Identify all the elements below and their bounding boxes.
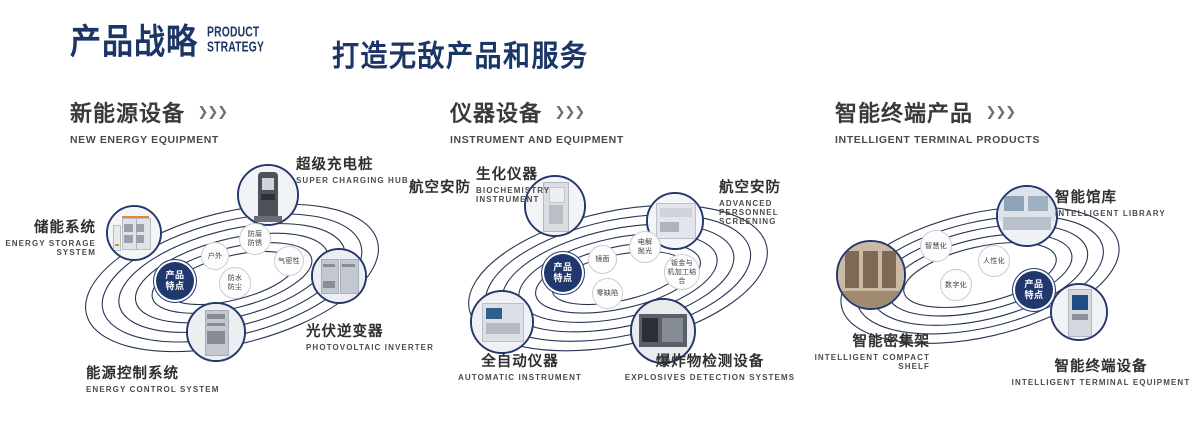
auto-analyzer-icon bbox=[472, 292, 532, 352]
label-cn: 生化仪器 bbox=[476, 163, 552, 184]
section-title-cn: 仪器设备 bbox=[450, 96, 542, 128]
orbit-group-new-energy: 产品 特点 户外 防腐 防锈 防水 防尘 气密性 bbox=[60, 150, 440, 390]
label-en: ENERGY CONTROL SYSTEM bbox=[86, 385, 220, 394]
label-en: INTELLIGENT TERMINAL EQUIPMENT bbox=[1006, 378, 1196, 387]
terminal-kiosk-icon bbox=[1052, 285, 1106, 339]
chevron-right-icon: ❯❯❯ bbox=[985, 104, 1015, 120]
section-title-cn: 新能源设备 bbox=[70, 96, 185, 128]
feature-bubble-mirror: 镜面 bbox=[588, 245, 617, 274]
label-cn: 智能终端设备 bbox=[1006, 355, 1196, 376]
feature-bubble-text: 防腐 bbox=[248, 230, 263, 239]
label-en: ADVANCED PERSONNEL SCREENING bbox=[719, 199, 815, 226]
energy-storage-cabinet-icon bbox=[108, 207, 160, 259]
chevron-right-icon: ❯❯❯ bbox=[554, 104, 584, 120]
label-cn: 储能系统 bbox=[0, 216, 96, 237]
chevron-right-icon: ❯❯❯ bbox=[197, 104, 227, 120]
section-title-cn: 智能终端产品 bbox=[835, 96, 973, 128]
label-intelligent-terminal-equipment: 智能终端设备 INTELLIGENT TERMINAL EQUIPMENT bbox=[1006, 355, 1196, 387]
feature-bubble-text: 防锈 bbox=[248, 239, 263, 248]
feature-bubble-digitalized: 数字化 bbox=[940, 269, 972, 301]
label-automatic-instrument: 全自动仪器 AUTOMATIC INSTRUMENT bbox=[430, 350, 610, 382]
label-en: PHOTOVOLTAIC INVERTER bbox=[306, 343, 434, 352]
feature-bubble-waterproof: 防水 防尘 bbox=[219, 267, 251, 299]
label-cn: 爆炸物检测设备 bbox=[620, 350, 800, 371]
library-room-icon bbox=[998, 187, 1056, 245]
label-photovoltaic-inverter: 光伏逆变器 PHOTOVOLTAIC INVERTER bbox=[306, 320, 434, 352]
label-biochemistry-instrument: 生化仪器 BIOCHEMISTRY INSTRUMENT bbox=[476, 163, 552, 204]
feature-bubble-text: 数字化 bbox=[945, 281, 967, 290]
label-cn: 航空安防 bbox=[719, 176, 815, 197]
label-en: ENERGY STORAGE SYSTEM bbox=[0, 239, 96, 257]
hub-product-features[interactable]: 产品 特点 bbox=[1015, 271, 1053, 309]
section-title-instrument: 仪器设备 ❯❯❯ INSTRUMENT AND EQUIPMENT bbox=[450, 96, 624, 146]
section-title-en: INSTRUMENT AND EQUIPMENT bbox=[450, 134, 624, 146]
hub-product-features[interactable]: 产品 特点 bbox=[544, 254, 582, 292]
label-cn: 能源控制系统 bbox=[86, 362, 220, 383]
label-explosives-detection-systems: 爆炸物检测设备 EXPLOSIVES DETECTION SYSTEMS bbox=[620, 350, 800, 382]
hub-line2: 特点 bbox=[1024, 290, 1043, 301]
page-title-en-line2: STRATEGY bbox=[207, 40, 264, 55]
label-energy-control-system: 能源控制系统 ENERGY CONTROL SYSTEM bbox=[86, 362, 220, 394]
label-en: EXPLOSIVES DETECTION SYSTEMS bbox=[620, 373, 800, 382]
node-intelligent-compact-shelf[interactable] bbox=[836, 240, 906, 310]
page-subtitle: 打造无敌产品和服务 bbox=[332, 32, 589, 75]
charging-pile-icon bbox=[239, 166, 297, 224]
hub-product-features[interactable]: 产品 特点 bbox=[156, 262, 194, 300]
label-cn: 智能馆库 bbox=[1055, 186, 1166, 207]
label-cn: 全自动仪器 bbox=[430, 350, 610, 371]
feature-bubble-text: 抛光 bbox=[638, 247, 653, 256]
feature-bubble-text: 户外 bbox=[208, 252, 223, 261]
page-title-en: PRODUCT STRATEGY bbox=[207, 25, 264, 59]
product-strategy-infographic: 产品战略 PRODUCT STRATEGY 打造无敌产品和服务 新能源设备 ❯❯… bbox=[0, 0, 1200, 422]
feature-bubble-intelligent: 智慧化 bbox=[920, 230, 952, 262]
label-en: AUTOMATIC INSTRUMENT bbox=[430, 373, 610, 382]
label-en: BIOCHEMISTRY INSTRUMENT bbox=[476, 186, 552, 204]
node-photovoltaic-inverter[interactable] bbox=[311, 248, 367, 304]
node-energy-control-system[interactable] bbox=[186, 302, 246, 362]
feature-bubble-text: 防水 bbox=[228, 274, 243, 283]
label-cn: 超级充电桩 bbox=[296, 153, 409, 174]
feature-bubble-text: 防尘 bbox=[228, 283, 243, 292]
feature-bubble-text: 机加工结合 bbox=[665, 268, 699, 286]
label-cn: 光伏逆变器 bbox=[306, 320, 434, 341]
control-cabinet-icon bbox=[188, 304, 244, 360]
node-automatic-instrument[interactable] bbox=[470, 290, 534, 354]
feature-bubble-text: 电解 bbox=[638, 238, 653, 247]
label-energy-storage-system: 储能系统 ENERGY STORAGE SYSTEM bbox=[0, 216, 96, 257]
feature-bubble-zero-defect: 零缺陷 bbox=[592, 278, 623, 309]
label-intelligent-compact-shelf: 智能密集架 INTELLIGENT COMPACT SHELF bbox=[790, 330, 930, 371]
node-super-charging-hub[interactable] bbox=[237, 164, 299, 226]
feature-bubble-text: 气密性 bbox=[278, 257, 300, 266]
hub-line2: 特点 bbox=[553, 273, 572, 284]
page-header: 产品战略 PRODUCT STRATEGY bbox=[70, 28, 270, 59]
section-title-en: NEW ENERGY EQUIPMENT bbox=[70, 134, 227, 146]
label-aviation-security: 航空安防 bbox=[409, 176, 471, 197]
feature-bubble-airtightness: 气密性 bbox=[274, 246, 304, 276]
feature-bubble-outdoor: 户外 bbox=[201, 242, 229, 270]
feature-bubble-humanized: 人性化 bbox=[978, 245, 1010, 277]
feature-bubble-text: 镜面 bbox=[595, 255, 610, 264]
label-advanced-personnel-screening: 航空安防 ADVANCED PERSONNEL SCREENING bbox=[719, 176, 815, 226]
node-energy-storage-system[interactable] bbox=[106, 205, 162, 261]
hub-line1: 产品 bbox=[553, 262, 572, 273]
node-intelligent-library[interactable] bbox=[996, 185, 1058, 247]
label-cn: 航空安防 bbox=[409, 176, 471, 197]
label-en: INTELLIGENT LIBRARY bbox=[1055, 209, 1166, 218]
hub-line1: 产品 bbox=[1024, 279, 1043, 290]
inverter-cabinet-icon bbox=[313, 250, 365, 302]
label-intelligent-library: 智能馆库 INTELLIGENT LIBRARY bbox=[1055, 186, 1166, 218]
feature-bubble-electro-polishing: 电解 抛光 bbox=[629, 231, 661, 263]
section-title-new-energy: 新能源设备 ❯❯❯ NEW ENERGY EQUIPMENT bbox=[70, 96, 227, 146]
label-en: INTELLIGENT COMPACT SHELF bbox=[790, 353, 930, 371]
feature-bubble-text: 人性化 bbox=[983, 257, 1005, 266]
feature-bubble-text: 智慧化 bbox=[925, 242, 947, 251]
feature-bubble-anticorrosion: 防腐 防锈 bbox=[239, 223, 271, 255]
feature-bubble-text: 零缺陷 bbox=[597, 289, 619, 298]
feature-bubble-text: 钣金与 bbox=[665, 259, 699, 268]
feature-bubble-sheetmetal-machining: 钣金与 机加工结合 bbox=[664, 254, 700, 290]
hub-line2: 特点 bbox=[165, 281, 184, 292]
node-intelligent-terminal-equipment[interactable] bbox=[1050, 283, 1108, 341]
label-cn: 智能密集架 bbox=[790, 330, 930, 351]
page-title-en-line1: PRODUCT bbox=[207, 25, 264, 40]
hub-line1: 产品 bbox=[165, 270, 184, 281]
page-title-cn: 产品战略 bbox=[70, 24, 198, 59]
section-title-intelligent-terminal: 智能终端产品 ❯❯❯ INTELLIGENT TERMINAL PRODUCTS bbox=[835, 96, 1040, 146]
compact-shelf-icon bbox=[838, 242, 904, 308]
label-en: SUPER CHARGING HUB bbox=[296, 176, 409, 185]
label-super-charging-hub: 超级充电桩 SUPER CHARGING HUB bbox=[296, 153, 409, 185]
section-title-en: INTELLIGENT TERMINAL PRODUCTS bbox=[835, 134, 1040, 146]
